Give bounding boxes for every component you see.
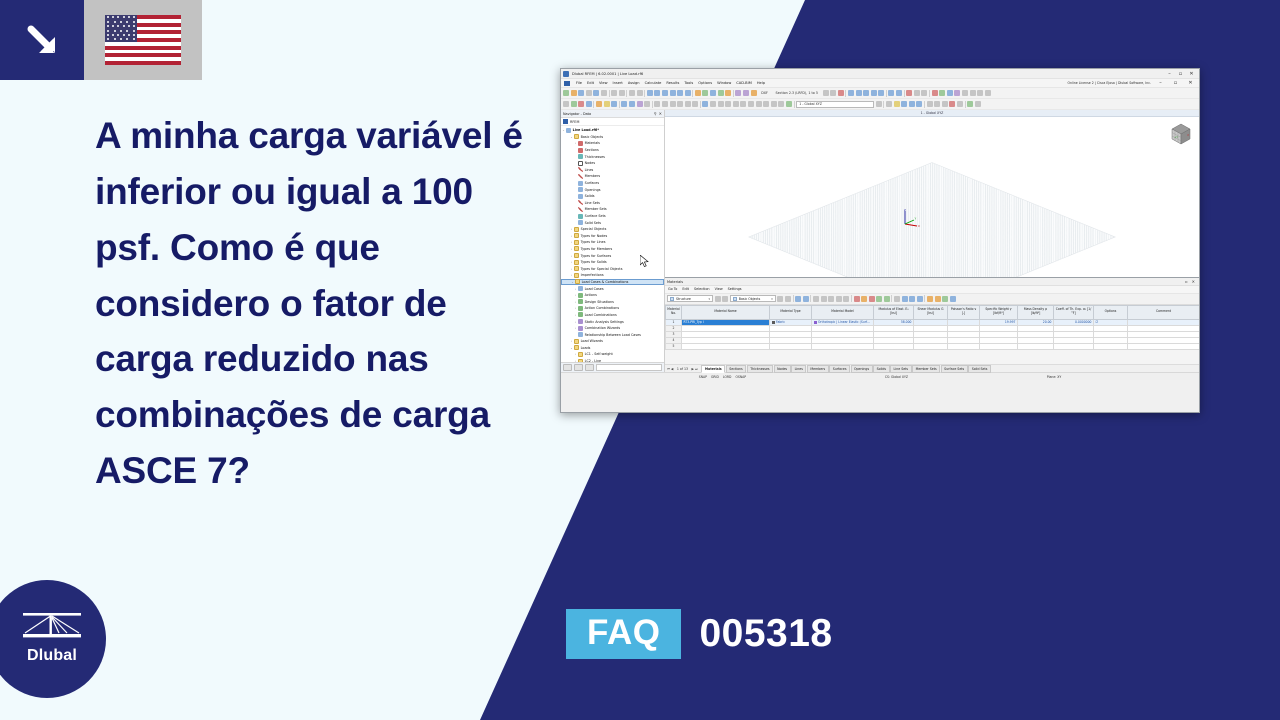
minimize-button[interactable]: –	[1164, 71, 1175, 77]
toolbar2-icon-solid[interactable]	[611, 101, 617, 107]
menu-item-results[interactable]: Results	[666, 81, 679, 85]
toolbar-icon-prev-section[interactable]	[823, 90, 829, 96]
toolbar-icon-more-3[interactable]	[985, 90, 991, 96]
toolbar2-icon-scale[interactable]	[677, 101, 683, 107]
navigator-node-label: Load Combinations	[585, 313, 617, 317]
toolbar-icon-pan[interactable]	[725, 90, 731, 96]
toolbar-icon-zoom-all[interactable]	[695, 90, 701, 96]
toolbar2-icon-guide[interactable]	[786, 101, 792, 107]
toolbar2-icon-pen[interactable]	[975, 101, 981, 107]
solid-icon	[578, 194, 583, 199]
menu-item-insert[interactable]: Insert	[613, 81, 623, 85]
materials-tool-refresh-icon[interactable]	[803, 296, 809, 302]
navigator-node-imperfections[interactable]: ›Imperfections	[561, 272, 664, 279]
toolbar-icon-loads[interactable]	[838, 90, 844, 96]
navigator-node-label: Load Wizards	[581, 339, 603, 343]
navigator-model-label: Live Load.rf6*	[573, 128, 599, 132]
navigator-node-materials[interactable]: ›Materials	[561, 140, 664, 147]
navigator-node-solids[interactable]: Solids	[561, 193, 664, 200]
materials-units-icon[interactable]	[909, 296, 915, 302]
model-icon	[566, 128, 571, 133]
cell-mass-density[interactable]	[1018, 343, 1054, 349]
menu-item-help[interactable]: Help	[757, 81, 765, 85]
toolbar-icon-section-view[interactable]	[677, 90, 683, 96]
navigator-node-surface-sets[interactable]: Surface Sets	[561, 213, 664, 220]
navigator-node-load-cases-combinations[interactable]: ⌄Load Cases & Combinations	[561, 279, 664, 286]
viewport-tab[interactable]: 1 - Global XYZ	[665, 110, 1199, 117]
toolbar-icon-support-3[interactable]	[947, 90, 953, 96]
table-pager-arrows[interactable]: ⏮ ◀	[667, 367, 673, 371]
status-osnap[interactable]: OSNAP	[735, 375, 746, 379]
load-case-icon	[578, 286, 583, 291]
materials-menu-settings[interactable]: Settings	[728, 287, 742, 291]
navigator-node-combination-wizards[interactable]: ›Combination Wizards	[561, 325, 664, 332]
menu-item-window[interactable]: Window	[717, 81, 731, 85]
thicknesses-icon	[578, 154, 583, 159]
navigator-node-types-for-members[interactable]: ›Types for Members	[561, 246, 664, 253]
navigator-node-label: Types for Lines	[581, 240, 606, 244]
cell-material-name[interactable]	[682, 343, 770, 349]
toolbar2-icon-dim-9[interactable]	[763, 101, 769, 107]
navigator-node-nodes[interactable]: Nodes	[561, 160, 664, 167]
toolbar-icon-object-info[interactable]	[863, 90, 869, 96]
toolbar2-icon-dim-10[interactable]	[771, 101, 777, 107]
materials-formula-icon[interactable]	[902, 296, 908, 302]
materials-excel-icon[interactable]	[942, 296, 948, 302]
navigator-node-openings[interactable]: Openings	[561, 186, 664, 193]
navigator-node-sections[interactable]: Sections	[561, 147, 664, 154]
toolbar2-icon-mesh[interactable]	[644, 101, 650, 107]
tab-surface-sets[interactable]: Surface Sets	[941, 365, 968, 373]
menu-item-file[interactable]: File	[576, 81, 582, 85]
svg-text:Y: Y	[915, 217, 917, 221]
toolbar2-icon-release[interactable]	[637, 101, 643, 107]
toolbar-icon-layers[interactable]	[921, 90, 927, 96]
objects-filter-icon	[733, 297, 737, 301]
toolbar2-icon-support[interactable]	[621, 101, 627, 107]
navigator-node-load-combinations[interactable]: ›Load Combinations	[561, 312, 664, 319]
cell-options[interactable]	[1094, 343, 1128, 349]
toolbar2-icon-array[interactable]	[692, 101, 698, 107]
toolbar-icon-settings[interactable]	[962, 90, 968, 96]
tab-member-sets[interactable]: Member Sets	[912, 365, 940, 373]
logo-label: Dlubal	[27, 647, 77, 665]
toolbar-icon-zoom-window[interactable]	[702, 90, 708, 96]
materials-toolbar-separator-1	[793, 295, 794, 302]
folder-icon	[578, 352, 583, 357]
navigator-node-label: Types for Solids	[581, 260, 607, 264]
tab-lines[interactable]: Lines	[791, 365, 806, 373]
toolbar-icon-open[interactable]	[571, 90, 577, 96]
doc-close-button[interactable]: ✕	[1185, 80, 1196, 86]
materials-columns-icon[interactable]	[894, 296, 900, 302]
tab-nodes[interactable]: Nodes	[774, 365, 791, 373]
toolbar2-icon-member[interactable]	[586, 101, 592, 107]
toolbar-icon-zoom-in[interactable]	[710, 90, 716, 96]
toolbar-icon-transparent[interactable]	[670, 90, 676, 96]
folder-icon	[574, 134, 579, 139]
pin-icon[interactable]: ⚲	[654, 111, 657, 116]
navigator-node-label: Surfaces	[585, 181, 599, 185]
menu-item-view[interactable]: View	[599, 81, 608, 85]
toolbar2-icon-color[interactable]	[967, 101, 973, 107]
toolbar-separator-3	[644, 90, 645, 97]
toolbar-icon-calculate-all[interactable]	[743, 90, 749, 96]
color-swatch	[814, 321, 817, 324]
toolbar2-separator-3	[652, 101, 653, 108]
materials-tool-grid-1[interactable]	[813, 296, 819, 302]
toolbar-icon-member-load[interactable]	[878, 90, 884, 96]
navigator-node-types-for-lines[interactable]: ›Types for Lines	[561, 239, 664, 246]
tab-openings[interactable]: Openings	[851, 365, 873, 373]
toolbar-icon-saveas[interactable]	[586, 90, 592, 96]
action-combination-icon	[578, 306, 583, 311]
navigator-node-design-situations[interactable]: ›Design Situations	[561, 298, 664, 305]
navigator-node-label: LC1 - Self-weight	[585, 352, 613, 356]
toolbar-icon-node-snap[interactable]	[848, 90, 854, 96]
toolbar2-icon-line[interactable]	[578, 101, 584, 107]
materials-print-icon[interactable]	[935, 296, 941, 302]
faq-number: 005318	[699, 612, 832, 656]
materials-toolbar-separator-5	[924, 295, 925, 302]
cell-specific-weight[interactable]	[980, 343, 1018, 349]
tab-thicknesses[interactable]: Thicknesses	[747, 365, 773, 373]
cell-thermal-coeff[interactable]	[1054, 343, 1094, 349]
cell-comment[interactable]	[1128, 343, 1200, 349]
dlubal-truss-icon	[23, 613, 81, 643]
menu-item-calculate[interactable]: Calculate	[645, 81, 662, 85]
doc-restore-button[interactable]: ▫	[1170, 80, 1181, 86]
toolbar2-icon-select[interactable]	[563, 101, 569, 107]
menu-item-edit[interactable]: Edit	[587, 81, 594, 85]
folder-icon	[574, 227, 579, 232]
us-flag-icon	[84, 0, 202, 80]
materials-next-button[interactable]	[722, 296, 728, 302]
materials-tool-grid-5[interactable]	[843, 296, 849, 302]
materials-tool-grid-3[interactable]	[828, 296, 834, 302]
toolbar-icon-print-preview[interactable]	[593, 90, 599, 96]
view-cube-icon[interactable]: +Y X	[1168, 121, 1194, 147]
toolbar2-separator-2	[619, 101, 620, 108]
toolbar2-icon-delete[interactable]	[949, 101, 955, 107]
toolbar-icon-support-2[interactable]	[939, 90, 945, 96]
navigator-panel: Navigator - Data ⚲ ✕ RFEM ⌄Live Load.rf6…	[561, 110, 665, 372]
toolbar2-icon-cs-edit[interactable]	[876, 101, 882, 107]
toolbar-icon-clipping[interactable]	[685, 90, 691, 96]
materials-window-title: Materials	[667, 280, 683, 284]
navigator-node-label: Types for Nodes	[581, 234, 608, 238]
toolbar-icon-display-props[interactable]	[906, 90, 912, 96]
folder-icon	[574, 266, 579, 271]
navigator-node-member-sets[interactable]: Member Sets	[561, 206, 664, 213]
toolbar2-icon-dim-3[interactable]	[718, 101, 724, 107]
materials-export-icon[interactable]	[869, 296, 875, 302]
navigator-node-surfaces[interactable]: Surfaces	[561, 180, 664, 187]
materials-menu-selection[interactable]: Selection	[694, 287, 710, 291]
app-body: Navigator - Data ⚲ ✕ RFEM ⌄Live Load.rf6…	[561, 110, 1199, 372]
status-coordinate-system: CS: Global XYZ	[885, 375, 908, 379]
toolbar-icon-render-mode[interactable]	[647, 90, 653, 96]
menu-item-tools[interactable]: Tools	[684, 81, 693, 85]
materials-tool-grid-2[interactable]	[821, 296, 827, 302]
status-lord[interactable]: LORD	[723, 375, 732, 379]
toolbar2-icon-rotate[interactable]	[670, 101, 676, 107]
materials-delete-row-icon[interactable]	[854, 296, 860, 302]
materials-append-row-icon[interactable]	[884, 296, 890, 302]
navigator-node-static-analysis-settings[interactable]: ›Static Analysis Settings	[561, 318, 664, 325]
toolbar-icon-cut[interactable]	[611, 90, 617, 96]
line-set-icon	[578, 200, 583, 205]
materials-filter-icon[interactable]	[917, 296, 923, 302]
navigator-tool-data-icon[interactable]	[563, 364, 572, 371]
toolbar2-icon-mirror[interactable]	[662, 101, 668, 107]
tab-solids[interactable]: Solids	[873, 365, 889, 373]
toolbar-icon-surface-load[interactable]	[871, 90, 877, 96]
col-material-type: Material Type	[770, 305, 812, 319]
cell-shear[interactable]	[914, 343, 948, 349]
materials-menu-edit[interactable]: Edit	[682, 287, 689, 291]
navigator-root-label: RFEM	[570, 120, 579, 124]
navigator-node-lc1-self-weight[interactable]: ›LC1 - Self-weight	[561, 351, 664, 358]
toolbar-separator-4	[692, 90, 693, 97]
toolbar2-icon-check[interactable]	[942, 101, 948, 107]
toolbar2-icon-snap[interactable]	[894, 101, 900, 107]
toolbar2-icon-ortho[interactable]	[901, 101, 907, 107]
toolbar2-icon-dim-2[interactable]	[710, 101, 716, 107]
cell-material-type[interactable]	[770, 343, 812, 349]
toolbar-icon-wireframe[interactable]	[654, 90, 660, 96]
structure-filter-select[interactable]: Structure ▾	[667, 295, 713, 302]
toolbar-icon-save[interactable]	[578, 90, 584, 96]
cell-material-model[interactable]	[812, 343, 874, 349]
menu-item-options[interactable]: Options	[698, 81, 712, 85]
toolbar-icon-new[interactable]	[563, 90, 569, 96]
tab-solid-sets[interactable]: Solid Sets	[968, 365, 991, 373]
materials-tool-back[interactable]	[777, 296, 783, 302]
toolbar2-separator-7	[924, 101, 925, 108]
navigator-node-thicknesses[interactable]: Thicknesses	[561, 153, 664, 160]
navigator-node-actions[interactable]: ›Actions	[561, 292, 664, 299]
navigator-node-label: Types for Surfaces	[581, 254, 612, 258]
navigator-model-node[interactable]: ⌄Live Load.rf6*	[561, 127, 664, 134]
toolbar-icon-visibility[interactable]	[914, 90, 920, 96]
toolbar-icon-solid-view[interactable]	[662, 90, 668, 96]
navigator-node-loads[interactable]: ⌄Loads	[561, 345, 664, 352]
navigator-node-label: Nodes	[585, 161, 595, 165]
toolbar-section-label: Section 2.3 (LRFD), 1 to 5	[773, 91, 821, 95]
toolbar2-icon-measure[interactable]	[934, 101, 940, 107]
folder-icon	[574, 260, 579, 265]
navigator-tool-display-icon[interactable]	[574, 364, 583, 371]
toolbar2-icon-dim-6[interactable]	[740, 101, 746, 107]
menu-item-cadbim[interactable]: CAD-BIM	[736, 81, 752, 85]
solid-set-icon	[578, 220, 583, 225]
navigator-node-members[interactable]: Members	[561, 173, 664, 180]
col-material-no: Material No.	[666, 305, 682, 319]
svg-text:+Y: +Y	[1174, 135, 1178, 139]
col-specific-weight: Specific Weight γ [lbf/ft³]	[980, 305, 1018, 319]
col-poissons-ratio: Poisson's Ratio ν [-]	[948, 305, 980, 319]
materials-tool-grid-4[interactable]	[836, 296, 842, 302]
navigator-node-load-wizards[interactable]: ›Load Wizards	[561, 338, 664, 345]
folder-icon	[574, 233, 579, 238]
toolbar-separator-7	[886, 90, 887, 97]
rfem-application-screenshot: Dlubal RFEM | 6.02.0001 | Live Load.rf6 …	[560, 68, 1200, 413]
navigator-node-load-cases[interactable]: ›Load Cases	[561, 285, 664, 292]
navigator-node-label: Design Situations	[585, 300, 614, 304]
objects-filter-label: Basic Objects	[739, 297, 761, 301]
toolbar2-icon-hinge[interactable]	[629, 101, 635, 107]
materials-toolbar-separator-2	[810, 295, 811, 302]
toolbar2-icon-surface[interactable]	[596, 101, 602, 107]
toolbar-row-2: 1 - Global XYZ	[561, 99, 1199, 110]
toolbar2-icon-dim-11[interactable]	[778, 101, 784, 107]
navigator-node-solid-sets[interactable]: Solid Sets	[561, 219, 664, 226]
materials-help-icon[interactable]	[950, 296, 956, 302]
toolbar2-separator-1	[593, 101, 594, 108]
status-bar: SNAP GRID LORD OSNAP CS: Global XYZ Plan…	[561, 372, 1199, 380]
toolbar-separator-8	[904, 90, 905, 97]
toolbar-icon-undo[interactable]	[629, 90, 635, 96]
coordinate-system-select[interactable]: 1 - Global XYZ	[796, 101, 874, 108]
toolbar2-icon-node[interactable]	[571, 101, 577, 107]
materials-tool-find-icon[interactable]	[795, 296, 801, 302]
materials-window: Materials ▫ ✕ Go To Edit Selection View …	[665, 277, 1199, 372]
toolbar-icon-result-values[interactable]	[896, 90, 902, 96]
menu-item-assign[interactable]: Assign	[628, 81, 640, 85]
tab-materials[interactable]: Materials	[701, 365, 725, 373]
cell-poisson[interactable]	[948, 343, 980, 349]
toolbar-icon-more-2[interactable]	[977, 90, 983, 96]
toolbar-separator-2	[626, 90, 627, 97]
navigator-node-special-objects[interactable]: ›Special Objects	[561, 226, 664, 233]
navigator-node-label: Member Sets	[585, 207, 607, 211]
navigator-node-action-combinations[interactable]: ›Action Combinations	[561, 305, 664, 312]
toolbar-icon-line-grid[interactable]	[856, 90, 862, 96]
doc-minimize-button[interactable]: –	[1155, 80, 1166, 86]
navigator-node-label: Surface Sets	[585, 214, 606, 218]
model-viewport[interactable]: 1 - Global XYZ Z X Y	[665, 110, 1199, 372]
materials-insert-row-icon[interactable]	[876, 296, 882, 302]
tab-sections[interactable]: Sections	[726, 365, 747, 373]
materials-restore-button[interactable]: ▫	[1183, 279, 1190, 284]
toolbar-icon-next-section[interactable]	[830, 90, 836, 96]
toolbar2-icon-info[interactable]	[927, 101, 933, 107]
navigator-node-line-sets[interactable]: Line Sets	[561, 200, 664, 207]
toolbar2-icon-copy-obj[interactable]	[654, 101, 660, 107]
tab-members[interactable]: Members	[807, 365, 829, 373]
member-icon	[578, 174, 583, 179]
folder-icon	[574, 345, 579, 350]
navigator-node-label: Combination Wizards	[585, 326, 620, 330]
navigator-node-label: Members	[585, 174, 601, 178]
status-grid[interactable]: GRID	[711, 375, 719, 379]
toolbar-icon-deform[interactable]	[888, 90, 894, 96]
objects-filter-select[interactable]: Basic Objects ▾	[730, 295, 776, 302]
navigator-node-label: Types for Members	[581, 247, 613, 251]
navigator-node-types-for-nodes[interactable]: ›Types for Nodes	[561, 233, 664, 240]
toolbar2-icon-opening[interactable]	[604, 101, 610, 107]
table-row[interactable]: 5	[666, 343, 1200, 349]
toolbar2-icon-move[interactable]	[685, 101, 691, 107]
navigator-node-label: Solid Sets	[585, 221, 601, 225]
status-snap[interactable]: SNAP	[699, 375, 707, 379]
materials-table-header-row: Material No. Material Name Material Type…	[666, 305, 1200, 319]
tab-line-sets[interactable]: Line Sets	[890, 365, 912, 373]
maximize-button[interactable]: ▫	[1175, 71, 1186, 77]
opening-icon	[578, 187, 583, 192]
materials-import-icon[interactable]	[861, 296, 867, 302]
materials-tool-forward[interactable]	[785, 296, 791, 302]
toolbar2-icon-track[interactable]	[916, 101, 922, 107]
close-button[interactable]: ✕	[1186, 71, 1197, 77]
materials-tabs-bar: ⏮ ◀ 1 of 13 ▶ ⏭ Materials Sections Thick…	[665, 364, 1199, 372]
navigator-node-label: Load Cases	[585, 287, 604, 291]
cell-material-no[interactable]: 5	[666, 343, 682, 349]
toolbar2-icon-dim-1[interactable]	[702, 101, 708, 107]
navigator-node-basic-objects[interactable]: ⌄Basic Objects	[561, 134, 664, 141]
materials-prev-button[interactable]	[715, 296, 721, 302]
toolbar2-icon-table[interactable]	[957, 101, 963, 107]
toolbar-icon-support-4[interactable]	[954, 90, 960, 96]
navigator-footer-field	[596, 364, 662, 371]
relationship-icon	[578, 332, 583, 337]
toolbar2-icon-polar[interactable]	[909, 101, 915, 107]
navigator-tool-views-icon[interactable]	[585, 364, 594, 371]
toolbar-icon-print[interactable]	[601, 90, 607, 96]
toolbar2-icon-dim-7[interactable]	[748, 101, 754, 107]
navigator-node-label: Special Objects	[581, 227, 607, 231]
navigator-root[interactable]: RFEM	[561, 118, 664, 126]
toolbar2-icon-dim-5[interactable]	[733, 101, 739, 107]
toolbar-icon-zoom-out[interactable]	[718, 90, 724, 96]
navigator-node-relationship-between-load-cases[interactable]: Relationship Between Load Cases	[561, 331, 664, 338]
tab-surfaces[interactable]: Surfaces	[829, 365, 850, 373]
toolbar-separator-9	[929, 90, 930, 97]
toolbar-icon-redo[interactable]	[637, 90, 643, 96]
navigator-header: Navigator - Data ⚲ ✕	[561, 110, 664, 118]
materials-menu-goto[interactable]: Go To	[668, 287, 677, 291]
cell-modulus[interactable]	[874, 343, 914, 349]
materials-title-bar: Materials ▫ ✕	[665, 278, 1199, 286]
navigator-close-icon[interactable]: ✕	[659, 111, 662, 116]
toolbar-icon-dxf-export[interactable]	[751, 90, 757, 96]
folder-icon	[574, 339, 579, 344]
toolbar-separator-1	[609, 90, 610, 97]
toolbar2-icon-dim-8[interactable]	[756, 101, 762, 107]
toolbar-icon-copy[interactable]	[619, 90, 625, 96]
license-info: Online License 2 | Cisca Ejosa | Dlubal …	[1067, 81, 1151, 85]
navigator-node-lines[interactable]: Lines	[561, 167, 664, 174]
navigator-node-label: Lines	[585, 168, 594, 172]
navigator-node-label: Action Combinations	[585, 306, 620, 310]
toolbar2-icon-dim-4[interactable]	[725, 101, 731, 107]
materials-library-icon[interactable]	[927, 296, 933, 302]
toolbar-separator-5	[733, 90, 734, 97]
materials-close-button[interactable]: ✕	[1190, 279, 1197, 284]
toolbar2-icon-grid[interactable]	[886, 101, 892, 107]
toolbar-icon-support-1[interactable]	[932, 90, 938, 96]
page-title: A minha carga variável é inferior ou igu…	[95, 108, 525, 499]
app-menu-icon[interactable]	[564, 81, 570, 86]
navigator-node-label: Relationship Between Load Cases	[585, 333, 641, 337]
toolbar-icon-calculate[interactable]	[735, 90, 741, 96]
menu-bar: File Edit View Insert Assign Calculate R…	[561, 79, 1199, 88]
toolbar-icon-more-1[interactable]	[970, 90, 976, 96]
materials-menu-view[interactable]: View	[715, 287, 723, 291]
table-pager-arrows-next[interactable]: ▶ ⏭	[692, 367, 698, 371]
line-icon	[578, 167, 583, 172]
